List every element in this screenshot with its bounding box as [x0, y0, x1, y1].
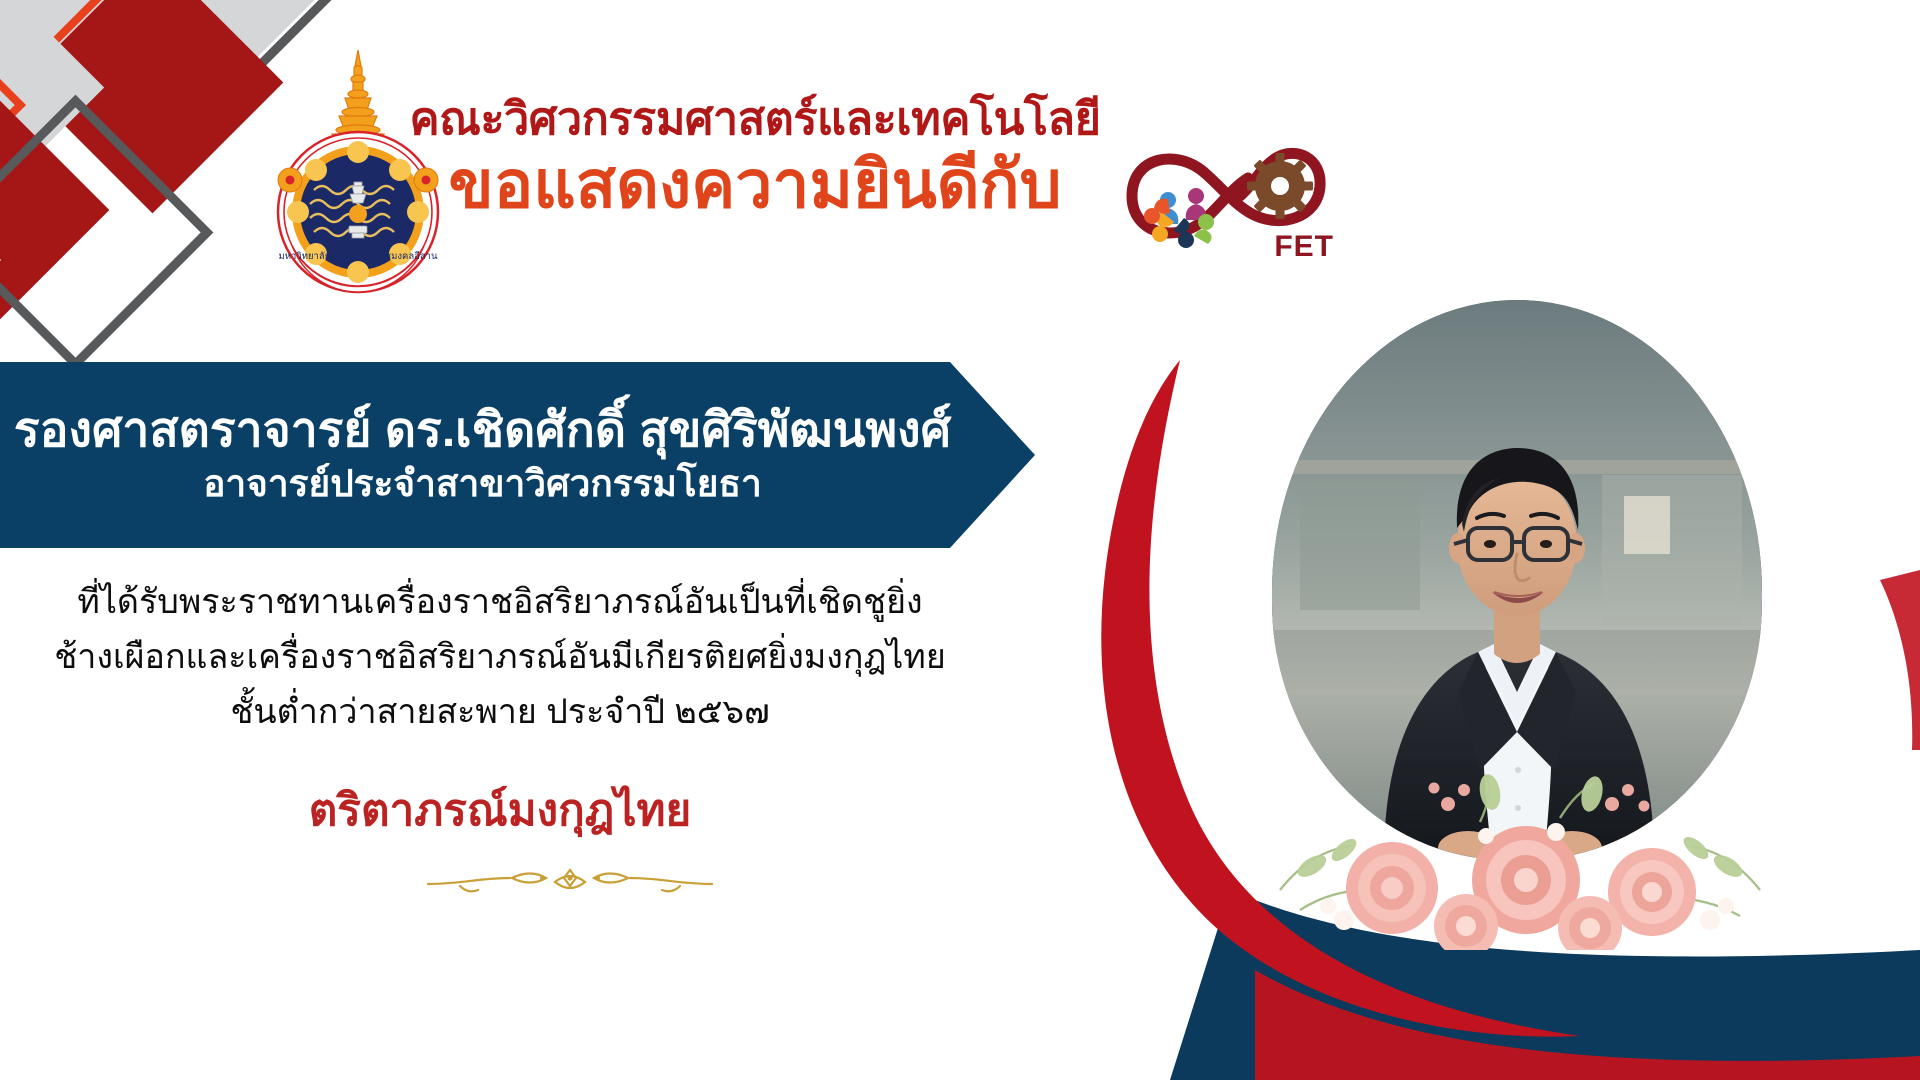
people-circle-icon	[1144, 188, 1214, 248]
citation-line-3: ชั้นต่ำกว่าสายสะพาย ประจำปี ๒๕๖๗	[40, 685, 960, 740]
fet-label: FET	[1274, 230, 1334, 264]
citation-line-2: ช้างเผือกและเครื่องราชอิสริยาภรณ์อันมีเก…	[40, 630, 960, 685]
faculty-heading: คณะวิศวกรรมศาสตร์และเทคโนโลยี	[385, 95, 1125, 142]
floral-decoration	[1240, 770, 1810, 950]
citation-line-1: ที่ได้รับพระราชทานเครื่องราชอิสริยาภรณ์อ…	[40, 575, 960, 630]
congratulation-banner: มหาวิทยาลัยเทคโนโลยีราชมงคลอีสาน คณะวิศว…	[0, 0, 1920, 1080]
honoree-department: อาจารย์ประจำสาขาวิศวกรรมโยธา	[203, 462, 762, 506]
emblem-ring-text: มหาวิทยาลัยเทคโนโลยีราชมงคลอีสาน	[279, 250, 438, 262]
fet-logo: FET	[1120, 130, 1340, 260]
gold-flourish-divider	[420, 862, 720, 904]
citation-paragraph: ที่ได้รับพระราชทานเครื่องราชอิสริยาภรณ์อ…	[40, 575, 960, 740]
honoree-name: รองศาสตราจารย์ ดร.เชิดศักดิ์ สุขศิริพัฒน…	[14, 403, 951, 458]
honoree-name-banner: รองศาสตราจารย์ ดร.เชิดศักดิ์ สุขศิริพัฒน…	[0, 362, 1035, 548]
award-title: ตริตาภรณ์มงกุฎไทย	[40, 785, 960, 838]
gear-icon	[1247, 153, 1313, 219]
congratulations-heading: ขอแสดงความยินดีกับ	[385, 146, 1125, 224]
header-block: คณะวิศวกรรมศาสตร์และเทคโนโลยี ขอแสดงความ…	[385, 95, 1125, 224]
